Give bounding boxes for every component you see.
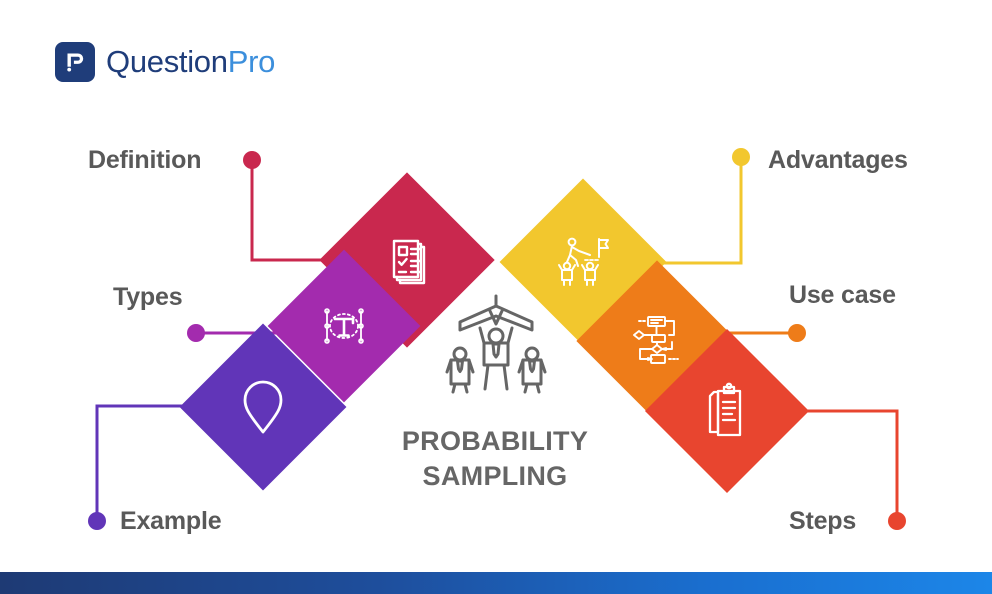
team-leader-people-icon bbox=[438, 292, 554, 398]
achievement-flag-teamwork-icon bbox=[552, 233, 614, 291]
node-label-advantages[interactable]: Advantages bbox=[768, 146, 908, 175]
flowchart-process-icon bbox=[626, 312, 688, 370]
logo-word-pro: Pro bbox=[228, 44, 275, 79]
node-label-definition[interactable]: Definition bbox=[88, 146, 201, 175]
dot-types bbox=[187, 324, 205, 342]
logo-wordmark: QuestionPro bbox=[106, 44, 275, 80]
dot-advantages bbox=[732, 148, 750, 166]
questionpro-logo[interactable]: QuestionPro bbox=[55, 42, 275, 82]
node-label-use-case[interactable]: Use case bbox=[789, 281, 896, 310]
text-tool-t-icon bbox=[316, 298, 372, 354]
dot-example bbox=[88, 512, 106, 530]
dot-use-case bbox=[788, 324, 806, 342]
question-mark-logo-icon bbox=[55, 42, 95, 82]
infographic-canvas: QuestionPro Definition Types Example Adv… bbox=[0, 0, 992, 594]
footer-gradient-bar bbox=[0, 572, 992, 594]
clipboard-notes-icon bbox=[698, 380, 756, 442]
node-label-example[interactable]: Example bbox=[120, 507, 221, 536]
page-title: PROBABILITY SAMPLING bbox=[370, 424, 620, 493]
title-line-1: PROBABILITY bbox=[370, 424, 620, 459]
dot-steps bbox=[888, 512, 906, 530]
node-label-steps[interactable]: Steps bbox=[789, 507, 856, 536]
logo-word-question: Question bbox=[106, 44, 228, 79]
checklist-documents-icon bbox=[376, 229, 438, 291]
node-label-types[interactable]: Types bbox=[113, 283, 182, 312]
title-line-2: SAMPLING bbox=[370, 459, 620, 494]
dot-definition bbox=[243, 151, 261, 169]
location-pin-icon bbox=[235, 376, 291, 438]
